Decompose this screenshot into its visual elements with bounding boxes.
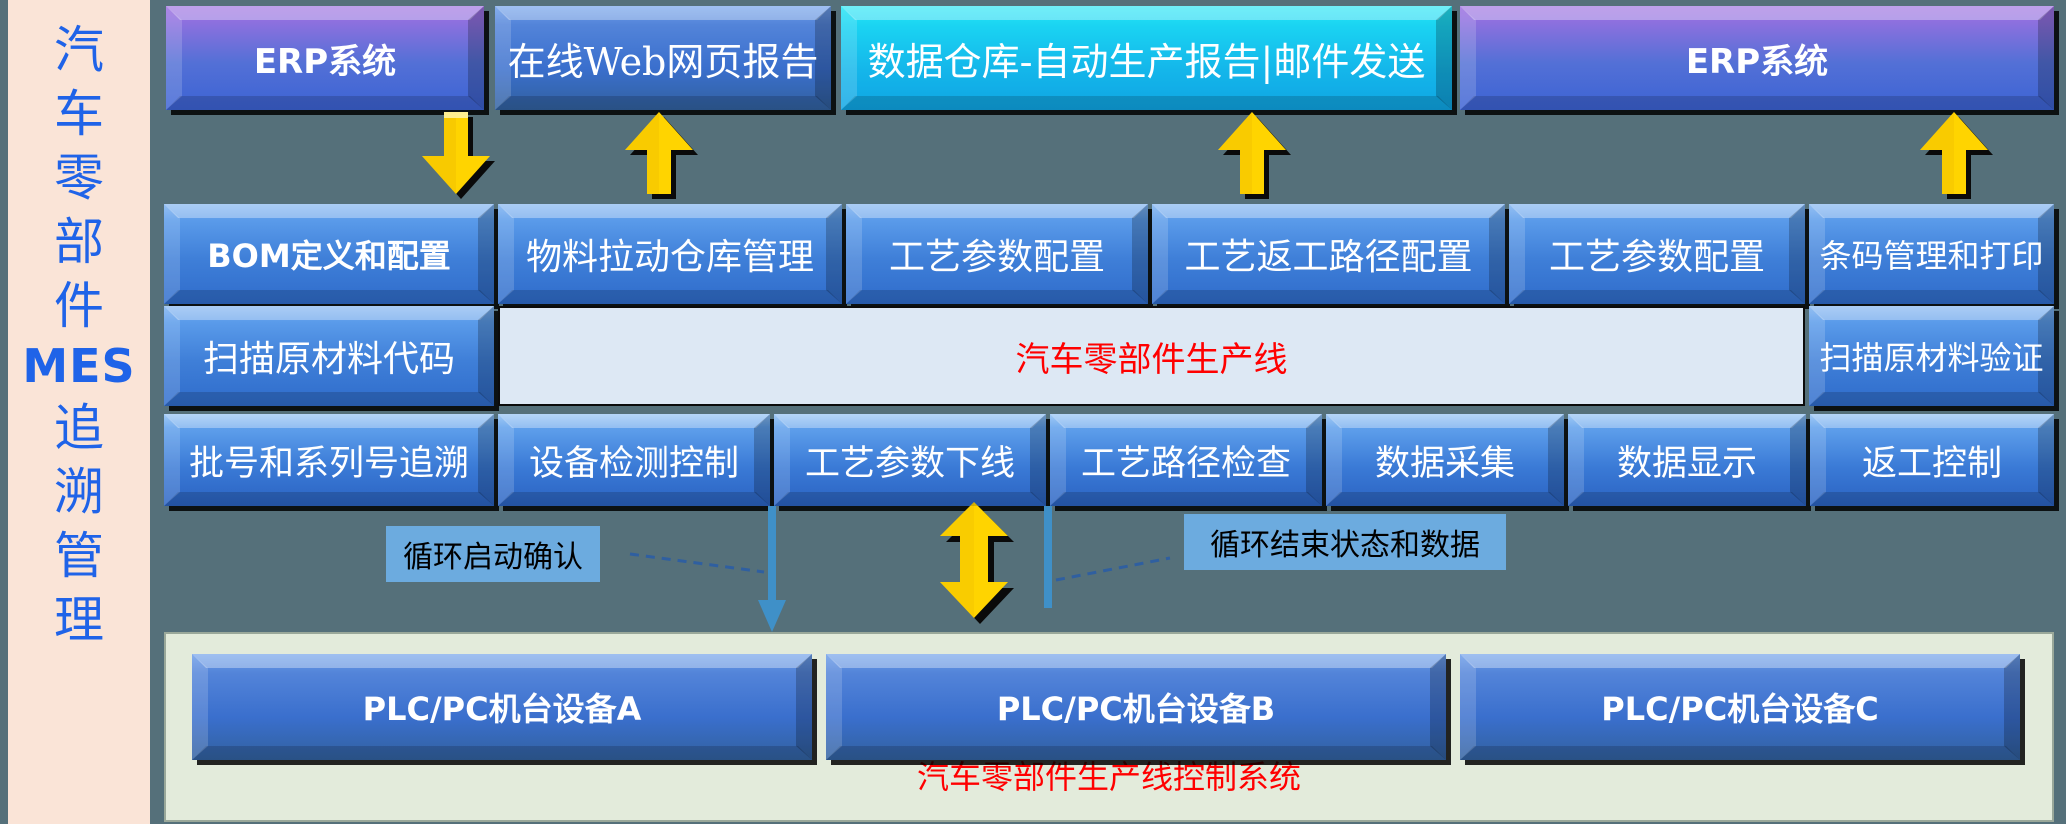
function-label-device-check: 设备检测控制: [523, 435, 745, 486]
config-label-bom: BOM定义和配置: [201, 231, 456, 277]
function-label-lot-trace: 批号和系列号追溯: [183, 435, 475, 486]
function-box-data-collect[interactable]: 数据采集: [1326, 414, 1564, 506]
config-box-barcode[interactable]: 条码管理和打印: [1809, 204, 2054, 304]
arrow-down-bom: [422, 112, 500, 204]
diagram-root: 汽 车 零 部 件 MES 追 溯 管 理 ERP系统 在线Web网页报告 数据…: [0, 0, 2066, 824]
title-char-5: 件: [54, 274, 104, 338]
arrow-up-data-warehouse: [1218, 112, 1296, 204]
plc-device-b-box[interactable]: PLC/PC机台设备B: [826, 654, 1446, 760]
web-report-box[interactable]: 在线Web网页报告: [495, 6, 831, 110]
title-char-2: 车: [54, 82, 104, 146]
title-char-1: 汽: [54, 18, 104, 82]
function-label-rework-control: 返工控制: [1856, 435, 2008, 486]
function-label-data-collect: 数据采集: [1369, 435, 1521, 486]
function-box-rework-control[interactable]: 返工控制: [1810, 414, 2054, 506]
erp-system-label-2: ERP系统: [1680, 34, 1834, 83]
function-box-data-display[interactable]: 数据显示: [1568, 414, 1806, 506]
plc-device-c-box[interactable]: PLC/PC机台设备C: [1460, 654, 2020, 760]
production-line-band: 汽车零部件生产线: [498, 306, 1805, 406]
scan-material-verify-label: 扫描原材料验证: [1813, 333, 2049, 379]
title-char-4: 部: [54, 210, 104, 274]
scan-material-code-box[interactable]: 扫描原材料代码: [164, 306, 494, 406]
function-label-param-offline: 工艺参数下线: [799, 435, 1021, 486]
note-cycle-end-label: 循环结束状态和数据: [1210, 520, 1480, 564]
diagram-board: ERP系统 在线Web网页报告 数据仓库-自动生产报告|邮件发送 ERP系统: [160, 0, 2066, 824]
function-label-path-check: 工艺路径检查: [1075, 435, 1297, 486]
function-box-path-check[interactable]: 工艺路径检查: [1050, 414, 1322, 506]
plc-device-c-label: PLC/PC机台设备C: [1595, 684, 1884, 730]
data-warehouse-box[interactable]: 数据仓库-自动生产报告|邮件发送: [841, 6, 1452, 110]
erp-system-label: ERP系统: [248, 34, 402, 83]
arrow-double-plc-b: [938, 502, 1022, 634]
data-warehouse-label: 数据仓库-自动生产报告|邮件发送: [862, 31, 1432, 86]
config-label-rework-path: 工艺返工路径配置: [1178, 228, 1478, 280]
title-char-7: 溯: [54, 460, 104, 524]
scan-material-code-label: 扫描原材料代码: [197, 330, 461, 382]
note-cycle-start-label: 循环启动确认: [403, 532, 583, 576]
title-char-6: 追: [54, 396, 104, 460]
config-box-bom[interactable]: BOM定义和配置: [164, 204, 494, 304]
note-cycle-start: 循环启动确认: [386, 526, 600, 582]
title-char-8: 管: [54, 524, 104, 588]
config-label-material: 物料拉动仓库管理: [520, 228, 820, 280]
config-box-process-param-2[interactable]: 工艺参数配置: [1509, 204, 1805, 304]
title-char-3: 零: [54, 146, 104, 210]
plc-device-a-box[interactable]: PLC/PC机台设备A: [192, 654, 812, 760]
production-line-label: 汽车零部件生产线: [1016, 332, 1288, 381]
config-label-process-param: 工艺参数配置: [883, 228, 1111, 280]
arrow-up-web-report: [625, 112, 703, 204]
plc-device-b-label: PLC/PC机台设备B: [991, 684, 1281, 730]
config-label-barcode: 条码管理和打印: [1813, 231, 2049, 277]
config-box-material[interactable]: 物料拉动仓库管理: [498, 204, 842, 304]
arrow-up-erp-2: [1920, 112, 1998, 204]
function-box-lot-trace[interactable]: 批号和系列号追溯: [164, 414, 494, 506]
config-box-rework-path[interactable]: 工艺返工路径配置: [1152, 204, 1505, 304]
title-mes: MES: [22, 338, 135, 396]
title-char-9: 理: [54, 588, 104, 652]
config-box-process-param[interactable]: 工艺参数配置: [846, 204, 1148, 304]
note-cycle-end: 循环结束状态和数据: [1184, 514, 1506, 570]
function-box-device-check[interactable]: 设备检测控制: [498, 414, 770, 506]
function-box-param-offline[interactable]: 工艺参数下线: [774, 414, 1046, 506]
web-report-label: 在线Web网页报告: [502, 31, 825, 86]
scan-material-verify-box[interactable]: 扫描原材料验证: [1809, 306, 2054, 406]
function-label-data-display: 数据显示: [1611, 435, 1763, 486]
plc-device-a-label: PLC/PC机台设备A: [357, 684, 648, 730]
config-label-process-param-2: 工艺参数配置: [1543, 228, 1771, 280]
erp-system-box-2[interactable]: ERP系统: [1460, 6, 2054, 110]
erp-system-box[interactable]: ERP系统: [166, 6, 484, 110]
vertical-title-panel: 汽 车 零 部 件 MES 追 溯 管 理: [8, 0, 150, 824]
